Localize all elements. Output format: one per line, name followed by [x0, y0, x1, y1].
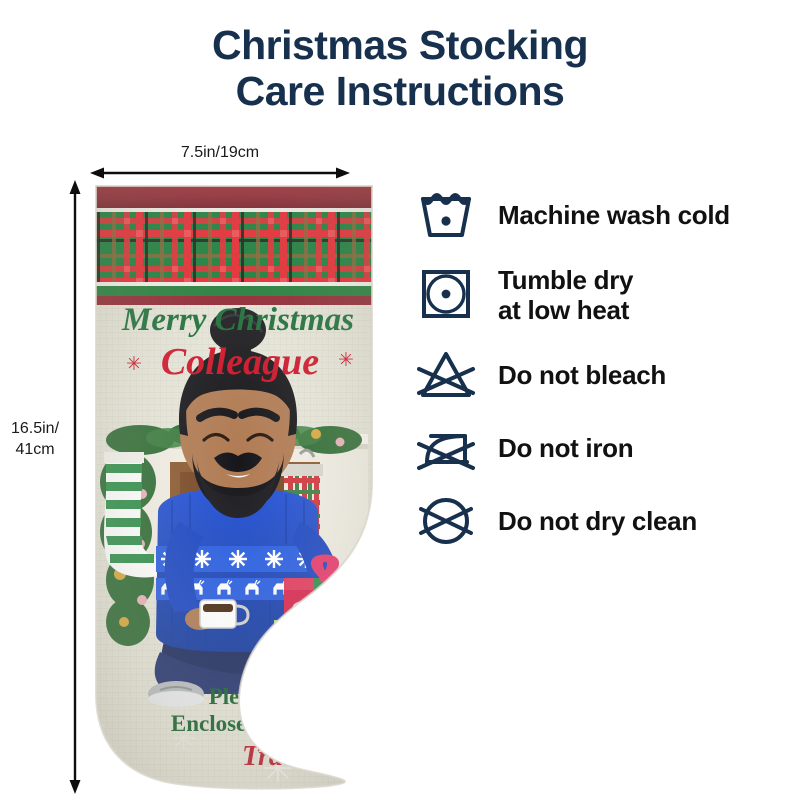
care-row-do-not-iron: Do not iron: [414, 419, 800, 477]
care-instructions-list: Machine wash cold Tumble dry at low heat: [414, 186, 800, 565]
page-title: Christmas Stocking Care Instructions: [0, 22, 800, 114]
care-label-tumble-dry-line-1: Tumble dry: [498, 265, 633, 295]
care-label-do-not-iron: Do not iron: [498, 433, 633, 463]
do-not-iron-icon: [414, 422, 478, 474]
page-title-line-1: Christmas Stocking: [212, 22, 588, 68]
horizontal-dimension-arrow: [90, 166, 350, 180]
care-label-tumble-dry-line-2: at low heat: [498, 295, 633, 325]
height-dimension-label-line-2: 41cm: [15, 441, 54, 458]
height-dimension-label: 16.5in/ 41cm: [0, 418, 70, 460]
page-title-line-2: Care Instructions: [0, 68, 800, 114]
care-label-do-not-bleach: Do not bleach: [498, 360, 666, 390]
height-dimension-label-line-1: 16.5in/: [11, 420, 59, 437]
stocking-product-image: Merry Christmas ✳ Colleague ✳ Please Del…: [88, 182, 388, 794]
care-label-tumble-dry: Tumble dry at low heat: [498, 265, 633, 325]
care-instructions-infographic: Christmas Stocking Care Instructions 7.5…: [0, 0, 800, 800]
do-not-dry-clean-icon: [414, 495, 478, 547]
care-label-machine-wash-cold: Machine wash cold: [498, 200, 730, 230]
care-row-tumble-dry: Tumble dry at low heat: [414, 259, 800, 331]
stocking-svg: Merry Christmas ✳ Colleague ✳ Please Del…: [88, 182, 388, 794]
vertical-dimension-arrow: [62, 180, 88, 794]
care-row-do-not-dry-clean: Do not dry clean: [414, 492, 800, 550]
care-row-machine-wash-cold: Machine wash cold: [414, 186, 800, 244]
do-not-bleach-icon: [414, 349, 478, 401]
machine-wash-cold-icon: [414, 189, 478, 241]
care-label-do-not-dry-clean: Do not dry clean: [498, 506, 697, 536]
care-row-do-not-bleach: Do not bleach: [414, 346, 800, 404]
width-dimension-label: 7.5in/19cm: [92, 144, 348, 162]
tumble-dry-low-heat-icon: [414, 269, 478, 321]
